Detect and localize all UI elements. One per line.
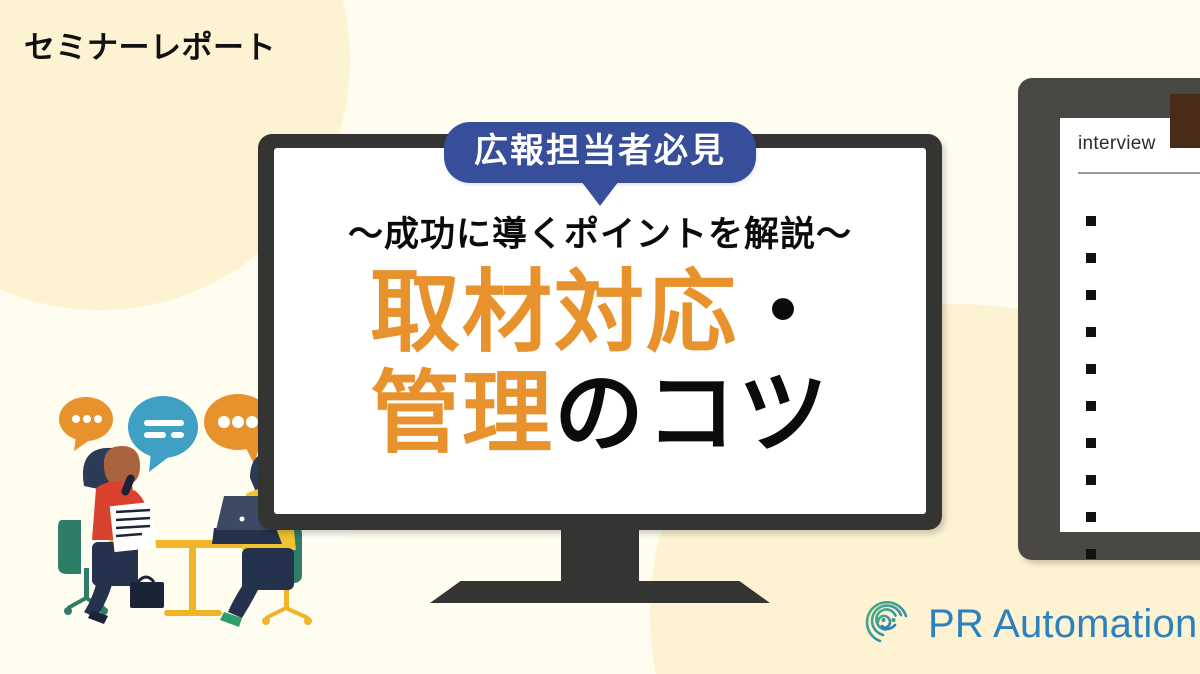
brand-logo-text: PR Automation [928, 602, 1197, 647]
title-line-2: 管理のコツ [370, 364, 830, 465]
list-item [1086, 216, 1096, 226]
monitor-screen: 広報担当者必見 〜成功に導くポイントを解説〜 取材対応・ 管理のコツ [274, 148, 926, 514]
title-line-2-orange: 管理 [370, 364, 554, 464]
title-line-2-black: のコツ [554, 364, 830, 464]
list-item [1086, 549, 1096, 559]
badge-tail-icon [581, 181, 619, 206]
monitor: 広報担当者必見 〜成功に導くポイントを解説〜 取材対応・ 管理のコツ [258, 134, 942, 530]
monitor-stand-base [430, 581, 770, 603]
tablet-page-title: interview [1078, 133, 1156, 155]
screen-content: 広報担当者必見 〜成功に導くポイントを解説〜 取材対応・ 管理のコツ [274, 148, 926, 514]
speech-bubble-orange-small [59, 397, 113, 451]
brand-logo: PR Automation [862, 596, 1197, 653]
list-item [1086, 327, 1096, 337]
list-item [1086, 475, 1096, 485]
tablet-device: interview [1018, 78, 1200, 560]
title-line-1-black: ・ [738, 263, 830, 363]
list-item [1086, 364, 1096, 374]
list-item [1086, 290, 1096, 300]
tablet-bullet-list [1086, 216, 1096, 559]
tablet-page: interview [1060, 118, 1200, 532]
title-line-1: 取材対応・ [370, 263, 830, 364]
poster-canvas: セミナーレポート [0, 0, 1200, 674]
tablet-divider [1078, 172, 1200, 174]
list-item [1086, 401, 1096, 411]
title-line-1-orange: 取材対応 [370, 263, 738, 363]
eyebrow-label: セミナーレポート [24, 22, 276, 67]
spiral-smiley-icon [862, 596, 914, 653]
list-item [1086, 253, 1096, 263]
badge-container: 広報担当者必見 [444, 122, 756, 183]
list-item [1086, 512, 1096, 522]
tablet-brown-tab [1170, 94, 1200, 148]
person-left [83, 446, 164, 624]
audience-badge: 広報担当者必見 [444, 122, 756, 183]
list-item [1086, 438, 1096, 448]
subtitle: 〜成功に導くポイントを解説〜 [348, 206, 852, 257]
